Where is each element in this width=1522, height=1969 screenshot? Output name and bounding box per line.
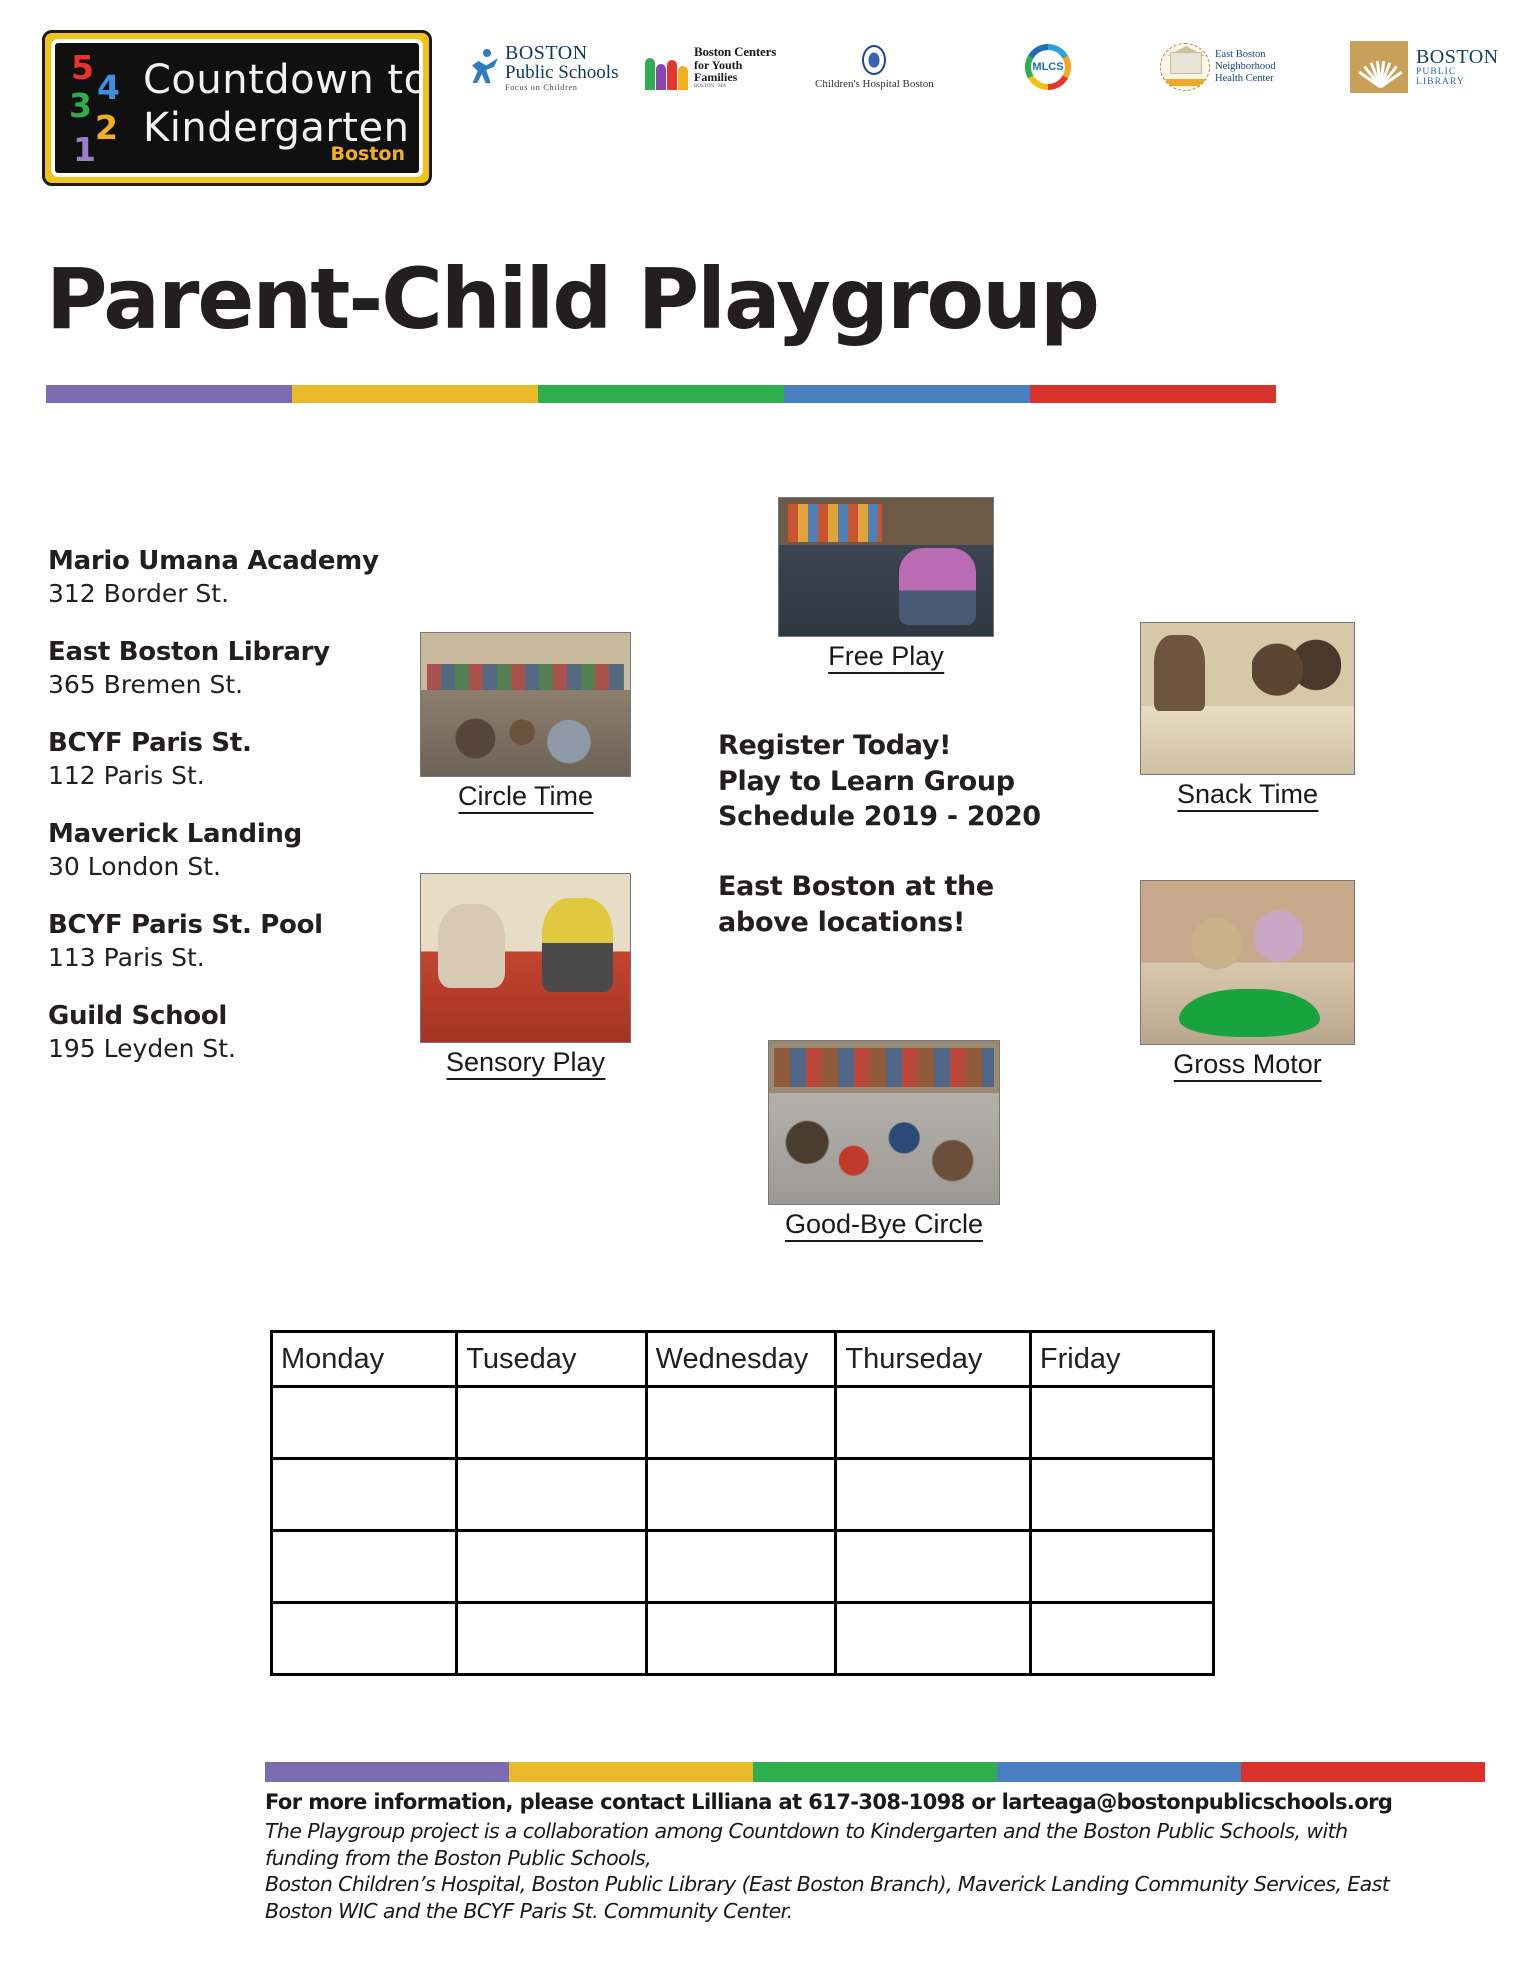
list-item: Maverick Landing 30 London St.: [48, 818, 408, 883]
color-bar-segment-yellow: [509, 1762, 753, 1782]
column-header-wednesday: Wednesday: [646, 1332, 836, 1387]
color-bar-top: [46, 385, 1276, 403]
partner-logo-boston-centers-for-youth-and-families: Boston Centers for Youth Families BOSTON…: [645, 36, 776, 98]
page-title: Parent-Child Playgroup: [46, 250, 1098, 348]
table-cell[interactable]: [272, 1387, 457, 1459]
color-bar-segment-green: [538, 385, 784, 403]
table-cell[interactable]: [457, 1531, 646, 1603]
table-cell[interactable]: [272, 1531, 457, 1603]
table-cell[interactable]: [1030, 1387, 1213, 1459]
partner-logo-childrens-hospital-boston: Children's Hospital Boston: [815, 36, 934, 98]
pitch-line-2: Play to Learn Group: [718, 764, 1118, 800]
photo-card-snack-time: Snack Time: [1140, 622, 1355, 812]
color-bar-segment-blue: [784, 385, 1030, 403]
bps-line-1: BOSTON: [505, 43, 618, 63]
color-bar-segment-yellow: [292, 385, 538, 403]
location-address: 113 Paris St.: [48, 942, 408, 975]
location-name: Guild School: [48, 1000, 408, 1033]
table-cell[interactable]: [457, 1603, 646, 1675]
page-header: 5 4 3 2 1 Countdown to Kindergarten Bost…: [0, 0, 1522, 200]
photo-image-good-bye-circle: [768, 1040, 1000, 1205]
number-2: 2: [95, 111, 118, 144]
table-cell[interactable]: [646, 1387, 836, 1459]
photo-card-gross-motor: Gross Motor: [1140, 880, 1355, 1082]
bcyf-line-3: Families: [694, 71, 776, 84]
number-3: 3: [69, 89, 92, 122]
table-cell[interactable]: [836, 1459, 1031, 1531]
location-address: 30 London St.: [48, 851, 408, 884]
list-item: BCYF Paris St. Pool 113 Paris St.: [48, 909, 408, 974]
photo-card-circle-time: Circle Time: [420, 632, 631, 814]
table-cell[interactable]: [1030, 1603, 1213, 1675]
list-item: Guild School 195 Leyden St.: [48, 1000, 408, 1065]
bpl-line-2: PUBLIC LIBRARY: [1416, 68, 1503, 88]
column-header-tuesday: Tuseday: [457, 1332, 646, 1387]
location-name: Mario Umana Academy: [48, 545, 408, 578]
table-cell[interactable]: [646, 1459, 836, 1531]
table-cell[interactable]: [272, 1603, 457, 1675]
page-footer: For more information, please contact Lil…: [265, 1790, 1495, 1925]
color-bar-segment-purple: [46, 385, 292, 403]
table-cell[interactable]: [1030, 1531, 1213, 1603]
ebnhc-line-2: Neighborhood: [1215, 61, 1276, 73]
partner-logo-boston-public-library: BOSTON PUBLIC LIBRARY: [1350, 36, 1503, 98]
table-cell[interactable]: [836, 1603, 1031, 1675]
photo-caption: Good-Bye Circle: [785, 1205, 983, 1242]
ebnhc-line-3: Health Center: [1215, 73, 1276, 85]
table-row: [272, 1531, 1214, 1603]
footer-note-line-4: Boston WIC and the BCYF Paris St. Commun…: [265, 1898, 1495, 1925]
list-item: East Boston Library 365 Bremen St.: [48, 636, 408, 701]
photo-image-free-play: [778, 497, 994, 637]
color-bar-segment-purple: [265, 1762, 509, 1782]
location-address: 312 Border St.: [48, 578, 408, 611]
table-header-row: Monday Tuseday Wednesday Thurseday Frida…: [272, 1332, 1214, 1387]
photo-caption: Snack Time: [1177, 775, 1318, 812]
pitch-line-5: above locations!: [718, 905, 1118, 941]
contact-line: For more information, please contact Lil…: [265, 1790, 1495, 1814]
partner-logos: BOSTON Public Schools Focus on Children …: [460, 36, 1490, 102]
photo-card-good-bye-circle: Good-Bye Circle: [768, 1040, 1000, 1242]
table-row: [272, 1459, 1214, 1531]
location-address: 112 Paris St.: [48, 760, 408, 793]
location-name: BCYF Paris St.: [48, 727, 408, 760]
partner-logo-mlcs: MLCS: [1025, 36, 1071, 98]
bcyf-line-1: Boston Centers: [694, 45, 776, 59]
locations-list: Mario Umana Academy 312 Border St. East …: [48, 545, 408, 1091]
number-1: 1: [73, 133, 96, 166]
partner-logo-boston-public-schools: BOSTON Public Schools Focus on Children: [470, 36, 618, 98]
bps-line-2: Public Schools: [505, 63, 618, 82]
photo-card-free-play: Free Play: [778, 497, 994, 674]
table-cell[interactable]: [1030, 1459, 1213, 1531]
bpl-line-1: BOSTON: [1416, 47, 1503, 68]
table-cell[interactable]: [646, 1531, 836, 1603]
color-bar-segment-green: [753, 1762, 997, 1782]
weekly-schedule-table: Monday Tuseday Wednesday Thurseday Frida…: [270, 1330, 1215, 1676]
pitch-secondary: East Boston at the above locations!: [718, 869, 1118, 940]
column-header-thursday: Thurseday: [836, 1332, 1031, 1387]
bps-line-3: Focus on Children: [505, 84, 618, 92]
table-cell[interactable]: [272, 1459, 457, 1531]
bcyf-line-4: BOSTON · MA: [694, 84, 776, 89]
photo-caption: Sensory Play: [446, 1043, 605, 1080]
table-cell[interactable]: [836, 1387, 1031, 1459]
table-row: [272, 1603, 1214, 1675]
table-cell[interactable]: [646, 1603, 836, 1675]
color-bar-segment-blue: [997, 1762, 1241, 1782]
pitch-line-4: East Boston at the: [718, 869, 1118, 905]
photo-caption: Free Play: [828, 637, 944, 674]
partner-logo-east-boston-neighborhood-health-center: East Boston Neighborhood Health Center: [1160, 36, 1276, 98]
health-center-seal-icon: [1160, 43, 1210, 91]
color-bar-bottom: [265, 1762, 1485, 1782]
mlcs-label: MLCS: [1025, 61, 1071, 73]
pitch-primary: Register Today! Play to Learn Group Sche…: [718, 728, 1118, 835]
number-5: 5: [71, 51, 94, 84]
number-4: 4: [97, 71, 120, 104]
color-bar-segment-red: [1241, 1762, 1485, 1782]
list-item: Mario Umana Academy 312 Border St.: [48, 545, 408, 610]
table-cell[interactable]: [457, 1387, 646, 1459]
countdown-to-kindergarten-logo: 5 4 3 2 1 Countdown to Kindergarten Bost…: [42, 30, 432, 186]
photo-card-sensory-play: Sensory Play: [420, 873, 631, 1080]
photo-image-sensory-play: [420, 873, 631, 1043]
location-address: 195 Leyden St.: [48, 1033, 408, 1066]
photo-image-circle-time: [420, 632, 631, 777]
photo-image-snack-time: [1140, 622, 1355, 775]
mlcs-gear-icon: MLCS: [1025, 44, 1071, 90]
ebnhc-line-1: East Boston: [1215, 49, 1276, 61]
photo-caption: Circle Time: [458, 777, 593, 814]
location-address: 365 Bremen St.: [48, 669, 408, 702]
location-name: BCYF Paris St. Pool: [48, 909, 408, 942]
list-item: BCYF Paris St. 112 Paris St.: [48, 727, 408, 792]
registration-pitch: Register Today! Play to Learn Group Sche…: [718, 728, 1118, 940]
logo-chalkboard: 5 4 3 2 1 Countdown to Kindergarten Bost…: [51, 39, 423, 177]
countdown-numbers: 5 4 3 2 1: [67, 49, 129, 167]
footer-note-line-1: The Playgroup project is a collaboration…: [265, 1818, 1495, 1845]
table-row: [272, 1387, 1214, 1459]
people-figures-icon: [645, 44, 691, 90]
location-name: Maverick Landing: [48, 818, 408, 851]
running-figure-icon: [470, 48, 500, 86]
pitch-line-1: Register Today!: [718, 728, 1118, 764]
photo-image-gross-motor: [1140, 880, 1355, 1045]
photo-caption: Gross Motor: [1173, 1045, 1322, 1082]
logo-line-1: Countdown to: [143, 57, 423, 103]
table-cell[interactable]: [836, 1531, 1031, 1603]
footer-note-line-3: Boston Children’s Hospital, Boston Publi…: [265, 1871, 1495, 1898]
location-name: East Boston Library: [48, 636, 408, 669]
chb-caption: Children's Hospital Boston: [815, 78, 934, 90]
column-header-monday: Monday: [272, 1332, 457, 1387]
logo-city-label: Boston: [330, 143, 405, 165]
pitch-line-3: Schedule 2019 - 2020: [718, 799, 1118, 835]
color-bar-segment-red: [1030, 385, 1276, 403]
hospital-seal-icon: [862, 45, 886, 75]
footer-note-line-2: funding from the Boston Public Schools,: [265, 1845, 1495, 1872]
library-sunburst-icon: [1350, 41, 1408, 93]
column-header-friday: Friday: [1030, 1332, 1213, 1387]
table-cell[interactable]: [457, 1459, 646, 1531]
